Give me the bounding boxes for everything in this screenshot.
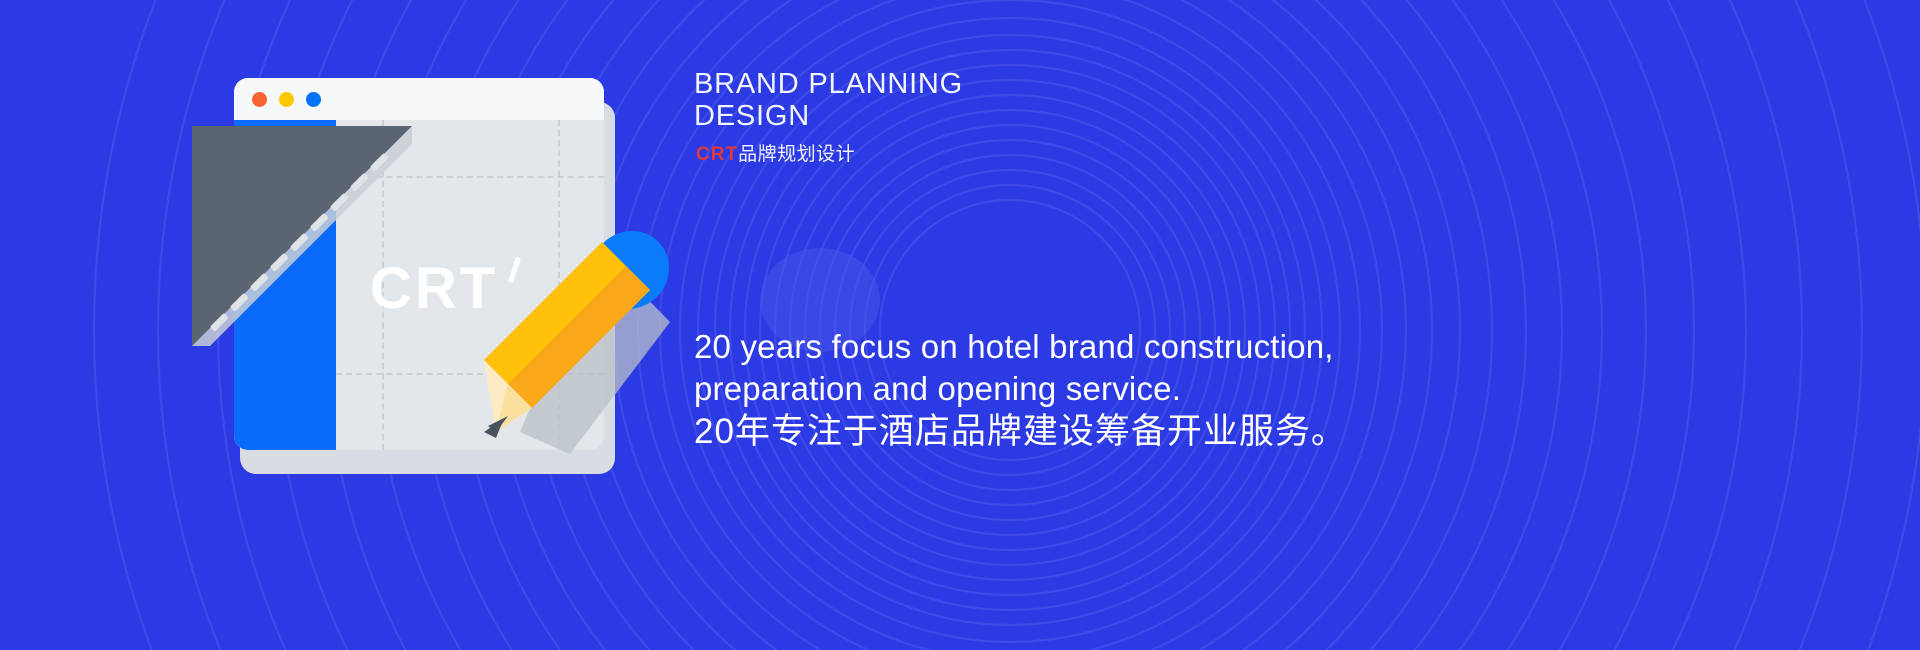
kicker-heading: BRAND PLANNING DESIGN bbox=[694, 68, 1174, 133]
kicker-subtitle-cn: CRT品牌规划设计 bbox=[696, 139, 855, 166]
browser-titlebar bbox=[234, 78, 604, 120]
maximize-dot[interactable] bbox=[306, 92, 321, 107]
pencil-icon bbox=[474, 218, 688, 478]
kicker-subtitle-cn-rest: 品牌规划设计 bbox=[738, 144, 855, 165]
promo-banner: CRT bbox=[0, 0, 1920, 650]
headline-en-line-2: preparation and opening service. bbox=[694, 368, 1394, 410]
brand-design-illustration: CRT bbox=[188, 78, 688, 458]
kicker-line-2: DESIGN bbox=[694, 100, 1174, 132]
headline-en-line-1: 20 years focus on hotel brand constructi… bbox=[694, 326, 1394, 368]
close-dot[interactable] bbox=[252, 92, 267, 107]
triangle-ruler-icon bbox=[188, 122, 428, 352]
headline-cn: 20年专注于酒店品牌建设筹备开业服务。 bbox=[694, 411, 1347, 453]
minimize-dot[interactable] bbox=[279, 92, 294, 107]
kicker-line-1: BRAND PLANNING bbox=[694, 68, 1174, 100]
banner-text-column: BRAND PLANNING DESIGN CRT品牌规划设计 20 years… bbox=[694, 0, 1874, 650]
brand-name-crt: CRT bbox=[696, 144, 738, 165]
headline-en: 20 years focus on hotel brand constructi… bbox=[694, 326, 1394, 410]
window-control-dots bbox=[252, 92, 321, 107]
